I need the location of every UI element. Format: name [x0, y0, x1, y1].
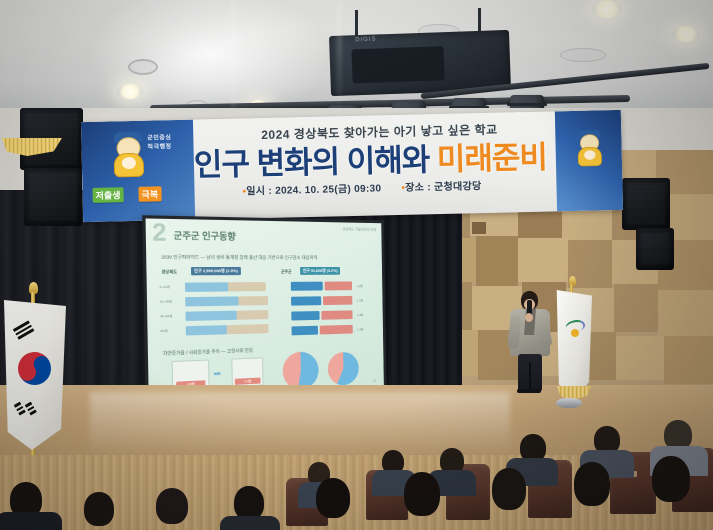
slide-content: 2 군주군 인구동향 경상북도 저출생과의 전쟁 2030 인구피라미드 — 남…: [146, 218, 384, 399]
slide-bottom-note: 자연증가율 / 사회증가율 추이 — 고령사회 진입: [163, 348, 253, 358]
flag-stand-right: [556, 398, 582, 408]
banner-place: 장소 : 군청대강당: [405, 181, 482, 194]
slide-title: 군주군 인구동향: [173, 228, 235, 242]
audience-shoulders: [0, 512, 62, 530]
bar-left-female: [237, 310, 269, 320]
slogan-line-2: 적극행정: [147, 144, 171, 151]
audience-head: [316, 478, 350, 518]
mascot-tag-birth: 저출생: [92, 187, 123, 203]
bar-right-b: [325, 281, 353, 290]
mascot-icon: [576, 131, 604, 167]
banner-title: 인구 변화의 이해와 미래준비: [193, 132, 547, 185]
banner-title-main: 인구 변화의 이해와: [194, 142, 430, 182]
slide-lead-text: 2030 인구피라미드 — 남녀 성비 통계청 장래 출산 대응 기반으로 인구…: [161, 254, 317, 261]
line-array-speaker-left: [24, 168, 82, 226]
bar-right-a: [292, 326, 319, 336]
bar-left-male: [185, 296, 238, 306]
presenter-hand: [525, 313, 533, 322]
korea-national-flag: [4, 300, 66, 450]
left-chart-label: 경상북도: [161, 269, 177, 275]
taeguk-symbol: [12, 346, 57, 391]
event-banner: 군민중심 적극행정 저출생 극복 2024 경상북도 찾아가는 아기 낳고 싶은…: [81, 110, 623, 222]
axis-tick: 40~64세: [160, 314, 172, 318]
bar-left-female: [227, 324, 269, 334]
slide-corner-note: 경상북도 저출생과의 전쟁: [343, 227, 377, 232]
bar-right-b: [323, 296, 352, 305]
projection-screen: 2 군주군 인구동향 경상북도 저출생과의 전쟁 2030 인구피라미드 — 남…: [142, 215, 386, 403]
audience-head: [574, 462, 610, 506]
downlight: [672, 26, 700, 42]
bar-multiplier: 1.2배: [357, 327, 363, 331]
bar-multiplier: 1.4배: [357, 313, 363, 317]
trigram-geon: [13, 320, 35, 341]
banner-date: 일시 : 2024. 10. 25(금) 09:30: [246, 183, 381, 197]
projector-lens: [351, 46, 444, 83]
bar-right-b: [320, 325, 353, 335]
left-chart-chip: 인구 2,599,000명 (1.9%): [191, 267, 241, 275]
bar-right-a: [291, 296, 321, 305]
audience-head: [492, 468, 526, 510]
axis-tick: 15~39세: [160, 299, 172, 303]
bar-left-female: [238, 296, 268, 306]
bar-left-male: [185, 282, 228, 292]
axis-tick: 65세↑: [160, 329, 168, 333]
pie-chart-2030: [328, 352, 359, 386]
mascot-icon: [111, 133, 146, 178]
right-chart-chip: 인구 51,668명 (3.2%): [300, 267, 340, 275]
bar-left-male: [186, 325, 227, 335]
line-array-speaker-right: [636, 228, 674, 270]
audience-head: [84, 492, 114, 526]
audience-head: [652, 456, 690, 502]
bar-multiplier: 1.2배: [356, 284, 362, 288]
bar-right-b: [321, 310, 352, 319]
rig-brand-label: DIGIS: [355, 37, 377, 44]
bar-right-a: [291, 282, 323, 291]
presenter-trousers: [518, 354, 542, 391]
axis-tick: 0~14세: [160, 285, 170, 289]
downlight: [117, 84, 143, 99]
presenter-shoes: [517, 389, 541, 393]
audience-shoulders: [220, 516, 280, 530]
ceiling-vent: [128, 59, 158, 75]
banner-title-accent: 미래준비: [436, 140, 547, 177]
county-emblem-icon: [564, 316, 586, 340]
bar-right-a: [291, 311, 319, 320]
mascot-tag-overcome: 극복: [138, 186, 161, 202]
auditorium-photo: DIGIS: [0, 0, 713, 530]
audience-head: [234, 486, 264, 520]
bar-left-female: [228, 282, 266, 291]
audience-head: [404, 472, 440, 516]
audience-head: [156, 488, 188, 524]
slogan-line-1: 군민중심: [147, 135, 171, 142]
line-array-speaker-right: [622, 178, 670, 230]
presenter: [508, 291, 552, 391]
banner-slogan: 군민중심 적극행정: [147, 134, 171, 153]
right-chart-label: 군주군: [281, 269, 292, 275]
slide-number: 2: [152, 221, 167, 246]
slide-page-number: 11: [373, 379, 376, 383]
bar-multiplier: 1.7배: [357, 299, 363, 303]
downlight: [592, 0, 622, 18]
bar-left-male: [185, 311, 236, 321]
ceiling-vent: [560, 48, 606, 62]
arrow-right-icon: ➡: [213, 369, 221, 379]
light-beam: [338, 0, 341, 120]
